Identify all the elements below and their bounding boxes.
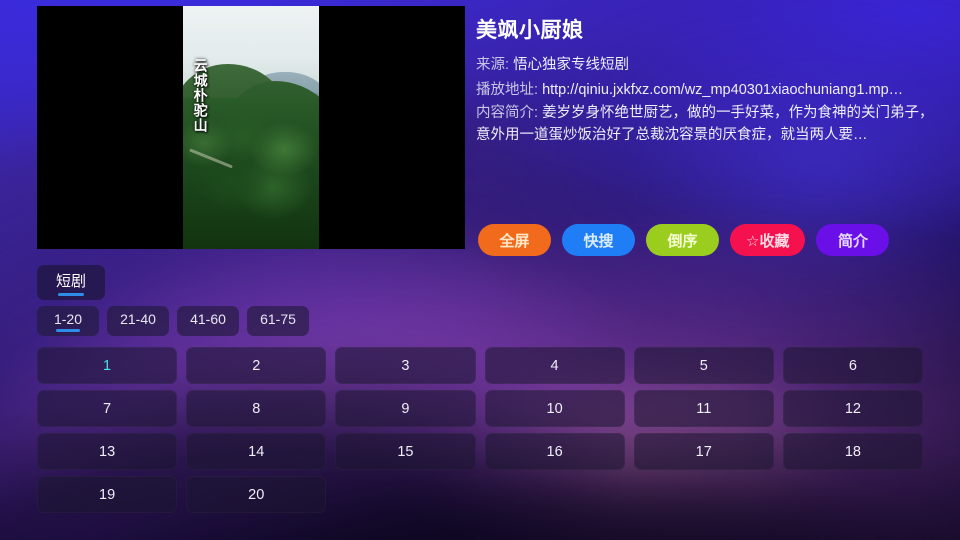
video-player[interactable]: 云城朴驼山 (37, 6, 465, 249)
episode-button[interactable]: 10 (485, 390, 625, 427)
episode-button[interactable]: 15 (335, 433, 475, 470)
page-title: 美飒小厨娘 (476, 14, 938, 44)
episode-range-tab-41-60[interactable]: 41-60 (177, 306, 239, 336)
quick-search-button[interactable]: 快搜 (562, 224, 635, 256)
episode-button[interactable]: 18 (783, 433, 923, 470)
episode-button[interactable]: 11 (634, 390, 774, 427)
media-info-panel: 美飒小厨娘 来源: 悟心独家专线短剧 播放地址: http://qiniu.jx… (476, 14, 938, 147)
episode-button[interactable]: 6 (783, 347, 923, 384)
source-line: 来源: 悟心独家专线短剧 (476, 53, 938, 74)
episode-range-tab-underline (56, 329, 80, 332)
episode-button[interactable]: 9 (335, 390, 475, 427)
playback-url-value: http://qiniu.jxkfxz.com/wz_mp40301xiaoch… (542, 82, 903, 98)
episode-button[interactable]: 17 (634, 433, 774, 470)
intro-button[interactable]: 简介 (816, 224, 889, 256)
category-tab-label: 短剧 (56, 273, 86, 290)
episode-range-tab-21-40[interactable]: 21-40 (107, 306, 169, 336)
video-detail-screen: 云城朴驼山 美飒小厨娘 来源: 悟心独家专线短剧 播放地址: http://qi… (0, 0, 960, 540)
action-button-row: 全屏快搜倒序☆收藏简介 (478, 224, 889, 256)
video-caption-text: 云城朴驼山 (191, 58, 207, 133)
episode-grid: 1234567891011121314151617181920 (37, 347, 923, 513)
episode-range-tab-label: 61-75 (260, 311, 296, 327)
episode-range-tab-label: 21-40 (120, 311, 156, 327)
description-label: 内容简介: (476, 105, 538, 121)
source-label: 来源: (476, 57, 509, 73)
reverse-order-button[interactable]: 倒序 (646, 224, 719, 256)
favorite-button[interactable]: ☆收藏 (730, 224, 805, 256)
episode-range-tab-row: 1-2021-4041-6061-75 (37, 306, 309, 336)
episode-button[interactable]: 5 (634, 347, 774, 384)
episode-range-tab-label: 41-60 (190, 311, 226, 327)
episode-button[interactable]: 19 (37, 476, 177, 513)
source-value: 悟心独家专线短剧 (513, 57, 629, 73)
category-tab-row: 短剧 (37, 265, 105, 300)
playback-url-line: 播放地址: http://qiniu.jxkfxz.com/wz_mp40301… (476, 78, 938, 99)
category-tab-underline (58, 293, 84, 296)
episode-button[interactable]: 7 (37, 390, 177, 427)
episode-button[interactable]: 4 (485, 347, 625, 384)
episode-range-tab-61-75[interactable]: 61-75 (247, 306, 309, 336)
description-line: 内容简介: 姜岁岁身怀绝世厨艺，做的一手好菜，作为食神的关门弟子，意外用一道蛋炒… (476, 103, 938, 147)
episode-button[interactable]: 20 (186, 476, 326, 513)
description-value: 姜岁岁身怀绝世厨艺，做的一手好菜，作为食神的关门弟子，意外用一道蛋炒饭治好了总裁… (476, 105, 934, 143)
playback-url-label: 播放地址: (476, 82, 538, 98)
episode-button[interactable]: 16 (485, 433, 625, 470)
episode-button[interactable]: 14 (186, 433, 326, 470)
video-frame: 云城朴驼山 (183, 6, 319, 249)
episode-range-tab-label: 1-20 (54, 311, 82, 327)
episode-button[interactable]: 13 (37, 433, 177, 470)
fullscreen-button[interactable]: 全屏 (478, 224, 551, 256)
category-tab-短剧[interactable]: 短剧 (37, 265, 105, 300)
episode-button[interactable]: 12 (783, 390, 923, 427)
episode-button[interactable]: 2 (186, 347, 326, 384)
episode-button[interactable]: 1 (37, 347, 177, 384)
episode-range-tab-1-20[interactable]: 1-20 (37, 306, 99, 336)
episode-button[interactable]: 8 (186, 390, 326, 427)
episode-button[interactable]: 3 (335, 347, 475, 384)
